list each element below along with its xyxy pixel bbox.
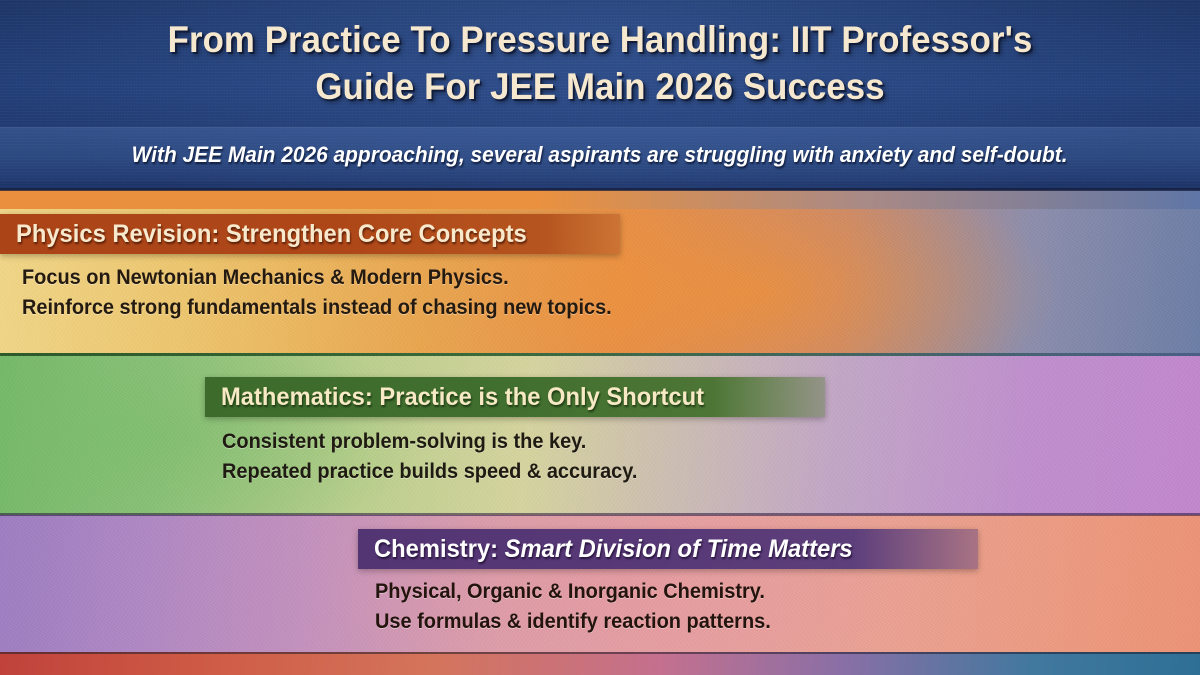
chem-heading-bold: Chemistry:	[374, 535, 498, 563]
section-physics: Physics Revision: Strengthen Core Concep…	[0, 190, 1200, 355]
math-heading-bold: Mathematics:	[221, 383, 373, 411]
math-body: Consistent problem-solving is the key. R…	[222, 427, 659, 487]
math-line-2: Repeated practice builds speed & accurac…	[222, 457, 637, 487]
chem-line-2: Use formulas & identify reaction pattern…	[375, 607, 771, 637]
chem-body: Physical, Organic & Inorganic Chemistry.…	[375, 577, 792, 637]
title-line-1: From Practice To Pressure Handling: IIT …	[36, 16, 1164, 63]
physics-heading-bold: Physics Revision:	[16, 220, 219, 248]
physics-line-1: Focus on Newtonian Mechanics & Modern Ph…	[22, 263, 612, 293]
math-heading: Mathematics: Practice is the Only Shortc…	[221, 383, 704, 412]
chem-heading: Chemistry: Smart Division of Time Matter…	[374, 535, 853, 564]
math-line-1: Consistent problem-solving is the key.	[222, 427, 637, 457]
page-title: From Practice To Pressure Handling: IIT …	[0, 16, 1200, 110]
header-banner: From Practice To Pressure Handling: IIT …	[0, 0, 1200, 190]
math-heading-band: Mathematics: Practice is the Only Shortc…	[205, 377, 825, 417]
divider-math-chem	[0, 513, 1200, 516]
physics-heading: Physics Revision: Strengthen Core Concep…	[16, 220, 527, 249]
chem-line-1: Physical, Organic & Inorganic Chemistry.	[375, 577, 771, 607]
physics-body: Focus on Newtonian Mechanics & Modern Ph…	[22, 263, 643, 323]
subtitle-band: With JEE Main 2026 approaching, several …	[0, 127, 1200, 182]
physics-heading-band: Physics Revision: Strengthen Core Concep…	[0, 214, 620, 254]
math-heading-rest: Practice is the Only Shortcut	[373, 383, 704, 411]
physics-top-strip	[0, 190, 1200, 209]
section-mathematics: Mathematics: Practice is the Only Shortc…	[0, 355, 1200, 515]
chem-heading-rest: Smart Division of Time Matters	[498, 535, 853, 563]
physics-line-2: Reinforce strong fundamentals instead of…	[22, 293, 612, 323]
physics-heading-rest: Strengthen Core Concepts	[219, 220, 526, 248]
title-line-2: Guide For JEE Main 2026 Success	[36, 63, 1164, 110]
chem-heading-band: Chemistry: Smart Division of Time Matter…	[358, 529, 978, 569]
subtitle-text: With JEE Main 2026 approaching, several …	[132, 142, 1068, 168]
bottom-accent-strip	[0, 652, 1200, 675]
infographic-poster: From Practice To Pressure Handling: IIT …	[0, 0, 1200, 675]
divider-header-physics	[0, 188, 1200, 191]
divider-physics-math	[0, 353, 1200, 356]
section-chemistry: Chemistry: Smart Division of Time Matter…	[0, 515, 1200, 652]
